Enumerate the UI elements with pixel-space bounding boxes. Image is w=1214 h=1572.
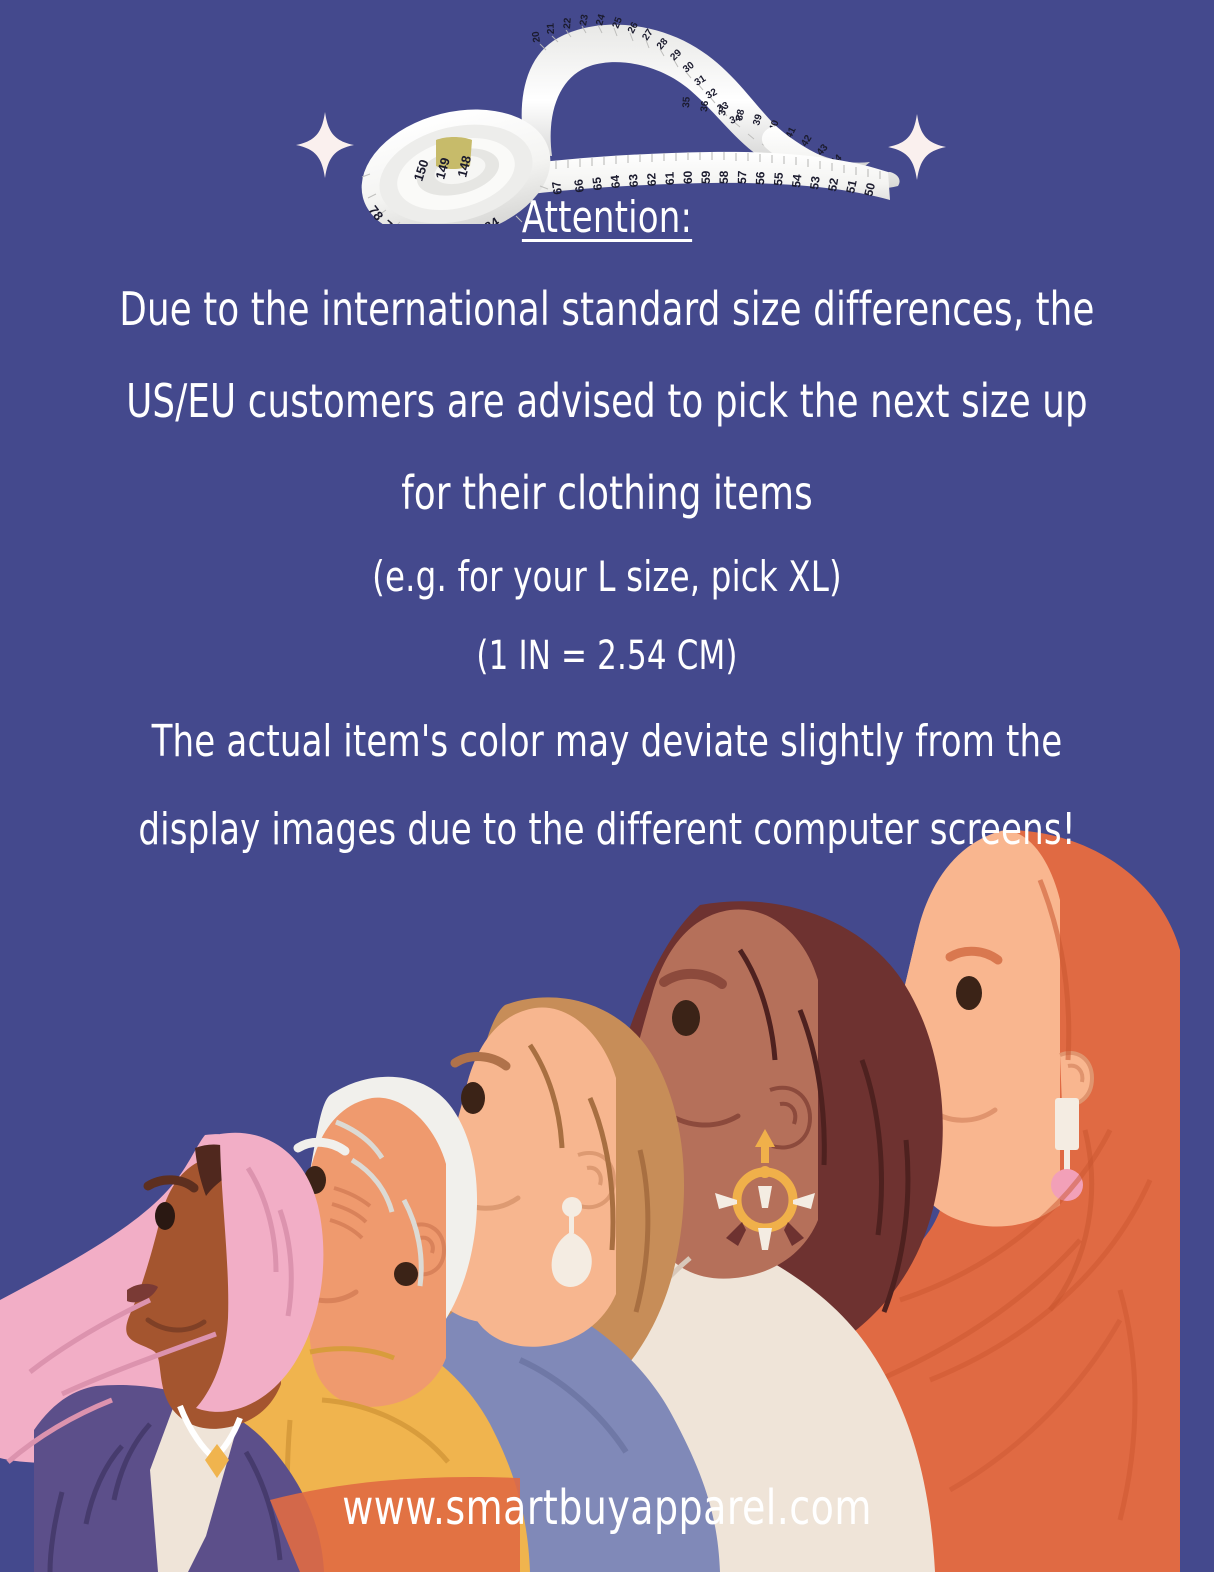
svg-text:36: 36 [699, 100, 711, 113]
svg-text:53: 53 [807, 175, 823, 190]
svg-text:64: 64 [608, 174, 623, 189]
earring-stud [394, 1262, 418, 1286]
svg-text:54: 54 [789, 173, 804, 188]
svg-text:59: 59 [699, 170, 713, 184]
svg-text:20: 20 [530, 30, 543, 43]
measuring-tape-icon: 20 21 22 23 24 25 26 27 28 29 30 31 32 3… [290, 4, 910, 224]
svg-text:63: 63 [626, 173, 641, 188]
svg-text:55: 55 [771, 172, 786, 187]
women-illustration [0, 0, 1214, 1572]
sparkle-left-icon [296, 112, 354, 178]
svg-text:24: 24 [594, 13, 608, 27]
size-guide-poster: 20 21 22 23 24 25 26 27 28 29 30 31 32 3… [0, 0, 1214, 1572]
svg-text:57: 57 [735, 170, 749, 184]
svg-text:35: 35 [681, 96, 693, 108]
svg-text:61: 61 [663, 171, 677, 185]
svg-text:58: 58 [717, 170, 731, 184]
sparkle-right-icon [888, 114, 946, 180]
svg-text:22: 22 [562, 17, 574, 29]
svg-text:67: 67 [549, 180, 565, 196]
svg-text:62: 62 [644, 172, 659, 186]
svg-text:65: 65 [590, 176, 605, 191]
svg-text:60: 60 [681, 170, 695, 184]
svg-text:56: 56 [753, 171, 767, 185]
svg-text:21: 21 [546, 22, 557, 34]
svg-text:52: 52 [825, 177, 841, 193]
svg-text:23: 23 [578, 13, 591, 26]
earring-bar [1055, 1098, 1079, 1150]
svg-text:66: 66 [571, 178, 587, 193]
svg-text:37: 37 [717, 103, 730, 116]
